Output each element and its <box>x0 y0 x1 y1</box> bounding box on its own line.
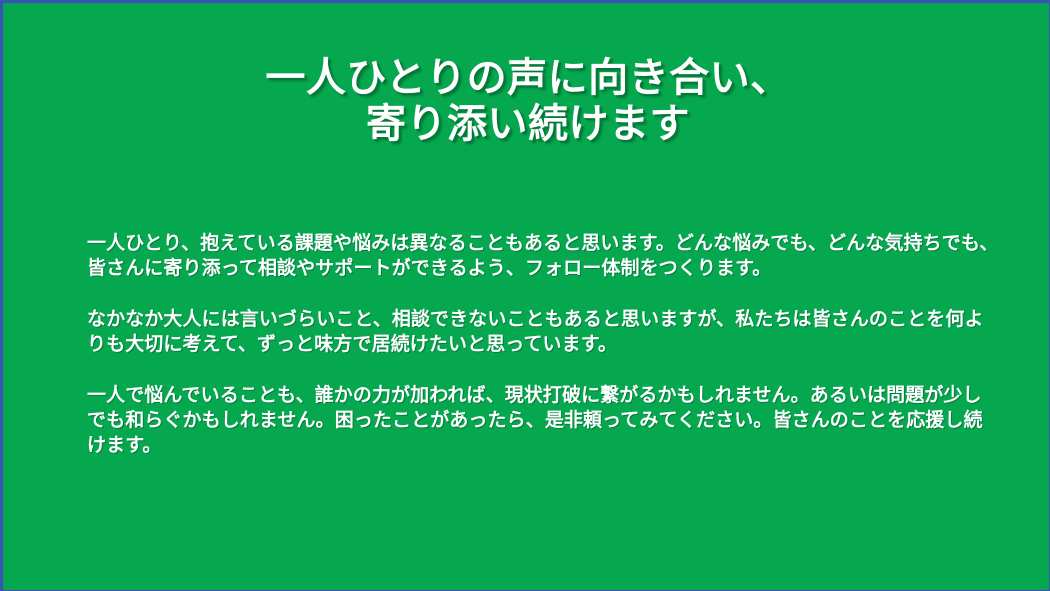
slide-body: 一人ひとり、抱えている課題や悩みは異なることもあると思います。どんな悩みでも、ど… <box>87 231 999 458</box>
body-paragraph-3: 一人で悩んでいることも、誰かの力が加われば、現状打破に繋がるかもしれません。ある… <box>87 383 999 458</box>
body-paragraph-2: なかなか大人には言いづらいこと、相談できないこともあると思いますが、私たちは皆さ… <box>87 307 999 357</box>
presentation-slide: 一人ひとりの声に向き合い、 寄り添い続けます 一人ひとり、抱えている課題や悩みは… <box>0 0 1050 591</box>
slide-title-line-1: 一人ひとりの声に向き合い、 <box>3 55 1050 101</box>
body-paragraph-1: 一人ひとり、抱えている課題や悩みは異なることもあると思います。どんな悩みでも、ど… <box>87 231 999 281</box>
slide-title-line-2: 寄り添い続けます <box>3 101 1050 147</box>
slide-title: 一人ひとりの声に向き合い、 寄り添い続けます <box>3 55 1050 147</box>
